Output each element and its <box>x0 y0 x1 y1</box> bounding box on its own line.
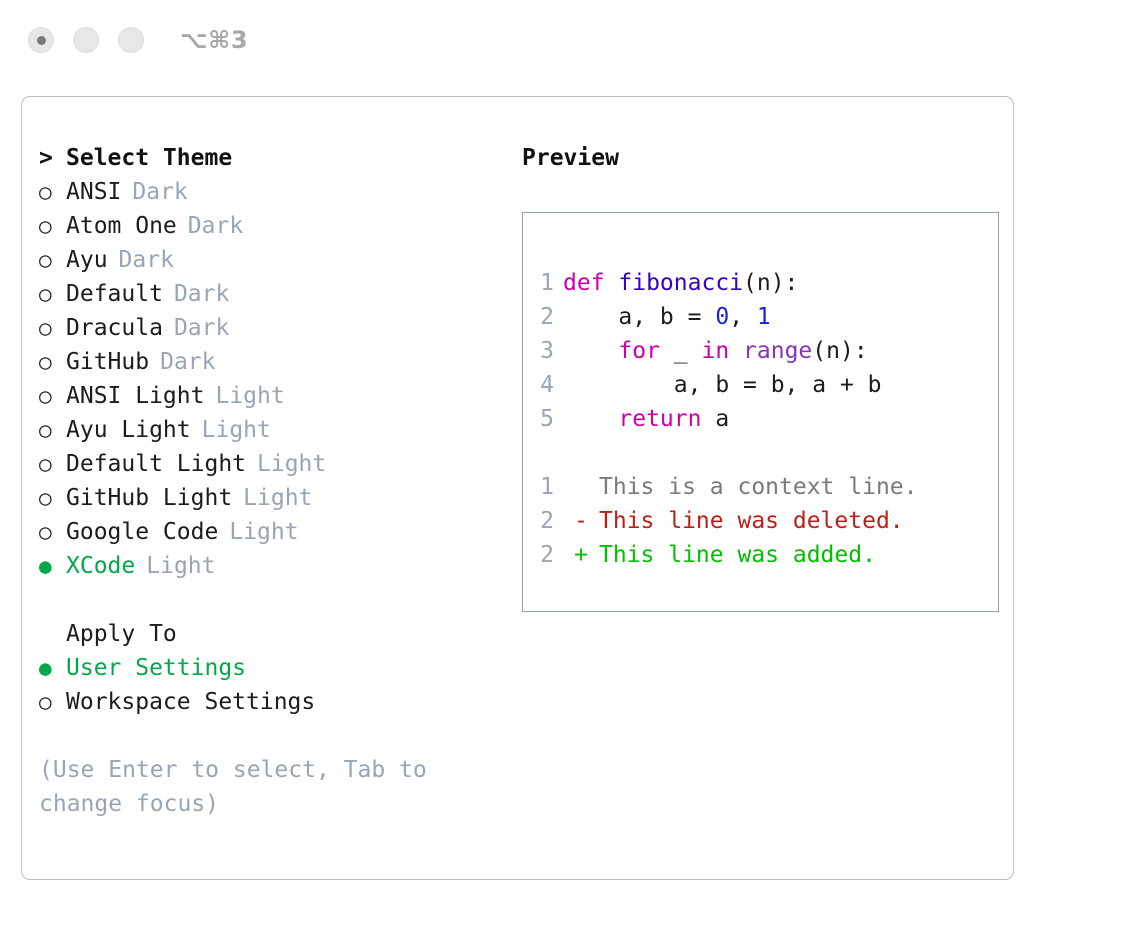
code-line-text: for _ in range(n): <box>563 334 868 368</box>
code-token: , <box>729 304 757 330</box>
theme-list-item[interactable]: ○Default LightLight <box>39 447 504 481</box>
theme-name: Default <box>66 277 163 311</box>
theme-name: Ayu <box>66 243 108 277</box>
theme-kind-badge: Light <box>202 413 271 447</box>
theme-list-item[interactable]: ○Atom OneDark <box>39 209 504 243</box>
theme-list-item[interactable]: ○GitHub LightLight <box>39 481 504 515</box>
code-token <box>563 338 618 364</box>
diff-line: 1 This is a context line. <box>523 470 998 504</box>
apply-to-option[interactable]: ○Workspace Settings <box>39 685 504 719</box>
theme-kind-badge: Dark <box>174 311 229 345</box>
radio-selected-icon[interactable]: ● <box>39 549 66 583</box>
theme-name: GitHub Light <box>66 481 232 515</box>
code-line: 2 a, b = 0, 1 <box>523 300 998 334</box>
theme-kind-badge: Light <box>215 379 284 413</box>
apply-to-label: Apply To <box>66 617 177 651</box>
theme-kind-badge: Light <box>146 549 215 583</box>
diff-line-number: 2 <box>523 538 563 572</box>
window-titlebar: ⌥⌘3 <box>0 0 1140 80</box>
preview-column: Preview 1def fibonacci(n):2 a, b = 0, 13… <box>504 141 1013 879</box>
theme-picker-panel: > Select Theme ○ANSIDark○Atom OneDark○Ay… <box>21 96 1014 880</box>
theme-list-item[interactable]: ○AyuDark <box>39 243 504 277</box>
active-dot-icon <box>37 36 46 45</box>
code-line-number: 3 <box>523 334 563 368</box>
code-line-number: 5 <box>523 402 563 436</box>
code-line: 5 return a <box>523 402 998 436</box>
theme-name: GitHub <box>66 345 149 379</box>
theme-kind-badge: Light <box>257 447 326 481</box>
theme-name: ANSI Light <box>66 379 204 413</box>
section-spacer <box>39 583 504 617</box>
code-line-text: a, b = b, a + b <box>563 368 882 402</box>
theme-list-item[interactable]: ○GitHubDark <box>39 345 504 379</box>
code-line: 3 for _ in range(n): <box>523 334 998 368</box>
theme-name: Atom One <box>66 209 177 243</box>
theme-kind-badge: Dark <box>132 175 187 209</box>
theme-kind-badge: Light <box>243 481 312 515</box>
theme-name: XCode <box>66 549 135 583</box>
theme-name: Default Light <box>66 447 246 481</box>
diff-line-text: This line was deleted. <box>599 504 904 538</box>
radio-unselected-icon[interactable]: ○ <box>39 413 66 447</box>
radio-selected-icon[interactable]: ● <box>39 651 66 685</box>
radio-unselected-icon[interactable]: ○ <box>39 447 66 481</box>
theme-name: ANSI <box>66 175 121 209</box>
caret-icon: > <box>39 141 66 175</box>
apply-to-option-label: Workspace Settings <box>66 685 315 719</box>
code-token: def <box>563 270 618 296</box>
code-token: a, b = <box>563 304 715 330</box>
code-token <box>729 338 743 364</box>
radio-unselected-icon[interactable]: ○ <box>39 175 66 209</box>
code-line-text: def fibonacci(n): <box>563 266 798 300</box>
code-line-number: 4 <box>523 368 563 402</box>
radio-unselected-icon[interactable]: ○ <box>39 243 66 277</box>
radio-unselected-icon[interactable]: ○ <box>39 311 66 345</box>
theme-list-item[interactable]: ○DefaultDark <box>39 277 504 311</box>
code-token: a <box>701 406 729 432</box>
window-control-maximize[interactable] <box>118 27 144 53</box>
theme-list-item[interactable]: ○DraculaDark <box>39 311 504 345</box>
radio-unselected-icon[interactable]: ○ <box>39 345 66 379</box>
keyboard-hint-text: (Use Enter to select, Tab to change focu… <box>39 753 439 821</box>
diff-line: 2-This line was deleted. <box>523 504 998 538</box>
preview-title: Preview <box>522 141 1013 175</box>
radio-unselected-icon[interactable]: ○ <box>39 277 66 311</box>
radio-unselected-icon[interactable]: ○ <box>39 685 66 719</box>
code-spacer <box>523 436 998 470</box>
radio-unselected-icon[interactable]: ○ <box>39 379 66 413</box>
select-theme-label: Select Theme <box>66 141 232 175</box>
code-sample: 1def fibonacci(n):2 a, b = 0, 13 for _ i… <box>523 266 998 436</box>
code-line: 4 a, b = b, a + b <box>523 368 998 402</box>
theme-name: Google Code <box>66 515 218 549</box>
code-token <box>563 406 618 432</box>
code-token: (n): <box>812 338 867 364</box>
code-line-text: a, b = 0, 1 <box>563 300 771 334</box>
code-line: 1def fibonacci(n): <box>523 266 998 300</box>
apply-to-option-list: ●User Settings○Workspace Settings <box>39 651 504 719</box>
diff-line: 2+This line was added. <box>523 538 998 572</box>
theme-list: ○ANSIDark○Atom OneDark○AyuDark○DefaultDa… <box>39 175 504 583</box>
theme-list-item[interactable]: ●XCodeLight <box>39 549 504 583</box>
theme-selection-column: > Select Theme ○ANSIDark○Atom OneDark○Ay… <box>39 141 504 879</box>
theme-list-item[interactable]: ○Google CodeLight <box>39 515 504 549</box>
code-token: fibonacci <box>618 270 743 296</box>
radio-unselected-icon[interactable]: ○ <box>39 209 66 243</box>
keyboard-shortcut-label: ⌥⌘3 <box>180 26 248 54</box>
diff-sign: - <box>563 504 599 538</box>
theme-list-item[interactable]: ○Ayu LightLight <box>39 413 504 447</box>
theme-kind-badge: Dark <box>119 243 174 277</box>
code-token: (n): <box>743 270 798 296</box>
diff-line-text: This is a context line. <box>599 470 918 504</box>
code-token: in <box>701 338 729 364</box>
diff-line-text: This line was added. <box>599 538 876 572</box>
theme-name: Ayu Light <box>66 413 191 447</box>
diff-line-number: 1 <box>523 470 563 504</box>
theme-kind-badge: Dark <box>174 277 229 311</box>
theme-kind-badge: Dark <box>188 209 243 243</box>
code-line-text: return a <box>563 402 729 436</box>
theme-name: Dracula <box>66 311 163 345</box>
radio-unselected-icon[interactable]: ○ <box>39 481 66 515</box>
apply-to-option[interactable]: ●User Settings <box>39 651 504 685</box>
code-token: for <box>618 338 660 364</box>
theme-list-item[interactable]: ○ANSIDark <box>39 175 504 209</box>
preview-codebox: 1def fibonacci(n):2 a, b = 0, 13 for _ i… <box>522 212 999 612</box>
spacer-icon <box>39 617 66 651</box>
window-controls <box>28 27 144 53</box>
theme-kind-badge: Light <box>229 515 298 549</box>
window-control-close[interactable] <box>28 27 54 53</box>
code-token: 1 <box>757 304 771 330</box>
code-token: 0 <box>715 304 729 330</box>
theme-kind-badge: Dark <box>160 345 215 379</box>
window-control-minimize[interactable] <box>73 27 99 53</box>
diff-line-number: 2 <box>523 504 563 538</box>
diff-sign: + <box>563 538 599 572</box>
diff-sign <box>563 470 599 504</box>
code-token: a, b = b, a + b <box>563 372 882 398</box>
apply-to-header: Apply To <box>39 617 504 651</box>
radio-unselected-icon[interactable]: ○ <box>39 515 66 549</box>
theme-list-item[interactable]: ○ANSI LightLight <box>39 379 504 413</box>
code-line-number: 2 <box>523 300 563 334</box>
code-token: return <box>618 406 701 432</box>
select-theme-header: > Select Theme <box>39 141 504 175</box>
diff-sample: 1 This is a context line.2-This line was… <box>523 470 998 572</box>
code-token: _ <box>660 338 702 364</box>
apply-to-option-label: User Settings <box>66 651 246 685</box>
code-line-number: 1 <box>523 266 563 300</box>
code-token: range <box>743 338 812 364</box>
